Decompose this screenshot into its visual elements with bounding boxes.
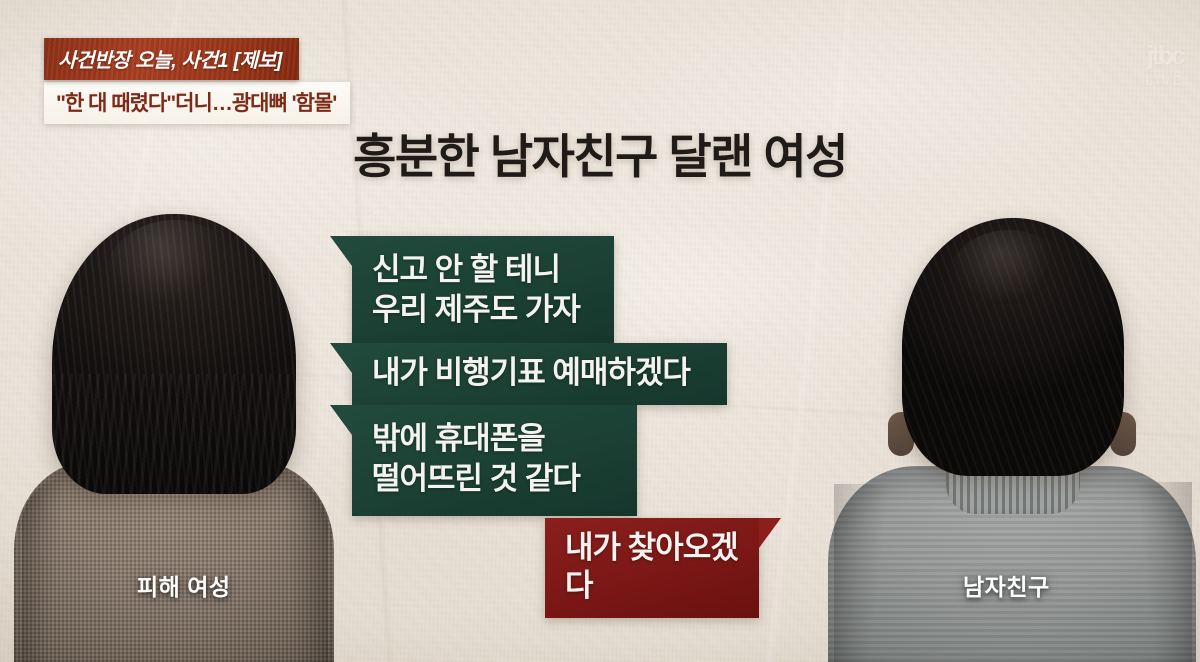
- program-subtitle: "한 대 때렸다"더니…광대뼈 '함몰': [56, 87, 336, 117]
- quote-text-1: 신고 안 할 테니 우리 제주도 가자: [372, 250, 596, 331]
- speech-bubble-tail-icon: [330, 236, 352, 266]
- speech-bubble-quote-4: 내가 찾아오겠다: [545, 518, 759, 618]
- nameplate-victim: 피해 여성: [137, 568, 231, 602]
- speech-bubble-quote-3: 밖에 휴대폰을 떨어뜨린 것 같다: [352, 405, 637, 516]
- news-graphic-stage: 피해 여성 남자친구 사건반장 오늘, 사건1 [제보] "한 대 때렸다"더니…: [0, 0, 1200, 662]
- jtbc-logo: jtbc LIVE: [1146, 40, 1184, 88]
- jtbc-wordmark: jtbc: [1146, 40, 1184, 71]
- quote-text-3: 밖에 휴대폰을 떨어뜨린 것 같다: [372, 419, 619, 500]
- nameplate-boyfriend: 남자친구: [963, 568, 1050, 602]
- speech-bubble-quote-2: 내가 비행기표 예매하겠다: [352, 343, 727, 405]
- quote-text-2: 내가 비행기표 예매하겠다: [372, 354, 709, 392]
- live-indicator-label: LIVE: [1146, 72, 1184, 88]
- speech-bubble-quote-1: 신고 안 할 테니 우리 제주도 가자: [352, 236, 614, 347]
- program-label: 사건반장 오늘, 사건1 [제보]: [58, 44, 282, 73]
- speech-bubble-tail-icon: [759, 518, 781, 548]
- program-banner: 사건반장 오늘, 사건1 [제보] "한 대 때렸다"더니…광대뼈 '함몰': [44, 38, 350, 124]
- program-banner-red-bar: 사건반장 오늘, 사건1 [제보]: [44, 38, 299, 80]
- page-title: 흥분한 남자친구 달랜 여성: [0, 118, 1200, 187]
- woman-hair: [52, 214, 296, 494]
- speech-bubble-tail-icon: [330, 343, 352, 373]
- speech-bubble-tail-icon: [330, 405, 352, 435]
- quote-text-4: 내가 찾아오겠다: [565, 529, 741, 605]
- man-hair: [902, 218, 1124, 476]
